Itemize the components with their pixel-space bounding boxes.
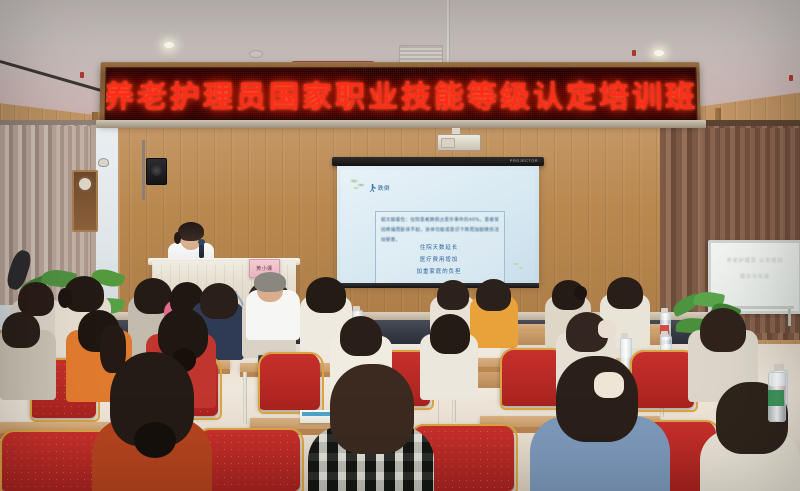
attendee-hair-bun: [58, 288, 72, 308]
whiteboard-leg: [788, 306, 791, 326]
attendee-hair: [2, 312, 40, 348]
slide-surface: 跌倒 据文献报告：住院患者跌倒占意外事件的40%，患者常因疼痛而卧床不起，身体功…: [341, 170, 535, 280]
attendee-hair: [306, 277, 346, 313]
chair-fabric: [4, 434, 106, 491]
attendee-hair: [476, 279, 511, 311]
attendee-hair: [18, 282, 54, 316]
ceiling-projector-icon: [437, 134, 481, 151]
sprinkler: [80, 72, 84, 78]
bottle-cap: [353, 306, 360, 311]
attendee-hair: [330, 364, 414, 454]
leaf-decoration-icon: [512, 261, 528, 273]
chair-frame: [258, 352, 324, 414]
screen-case-label: PROJECTOR: [510, 158, 538, 163]
bottle-cap: [661, 331, 668, 336]
attendee-hair: [340, 316, 382, 356]
ceiling-camera-icon: [98, 158, 109, 167]
wall-speaker-icon: [146, 158, 167, 185]
slide-line: 住院天数延长: [375, 242, 503, 254]
projection-screen: 跌倒 据文献报告：住院患者跌倒占意外事件的40%，患者常因疼痛而卧床不起，身体功…: [337, 166, 539, 286]
whiteboard-text-line-1: 养老护理员 认定培训: [719, 257, 791, 266]
slide-line: 医疗费用增加: [375, 254, 503, 266]
desk-leg: [243, 372, 247, 424]
hair-claw-clip: [594, 372, 624, 398]
sprinkler: [789, 75, 793, 81]
attendee-hair-bun: [574, 286, 587, 300]
bottle-cap: [774, 364, 784, 371]
attendee-hair-bun: [134, 422, 176, 458]
classroom-photo: 养老护理员国家职业技能等级认定培训班 PROJECTOR 跌倒 据文献报告：住院…: [0, 0, 800, 491]
led-banner: 养老护理员国家职业技能等级认定培训班: [99, 62, 700, 124]
led-banner-screen: 养老护理员国家职业技能等级认定培训班: [104, 67, 697, 121]
led-banner-text: 养老护理员国家职业技能等级认定培训班: [104, 72, 697, 116]
person-falling-icon: [369, 184, 376, 192]
attendee-hair: [254, 272, 286, 292]
attendee-hair: [556, 356, 638, 442]
downlight: [164, 42, 174, 48]
smoke-detector: [249, 50, 263, 58]
slide-line: 加重家庭的负担: [375, 266, 503, 278]
slide-heading: 跌倒: [369, 184, 390, 192]
attendee-hair: [700, 308, 746, 352]
bottle-cap: [661, 308, 668, 313]
sprinkler: [632, 50, 636, 56]
slide-bullet-lines: 住院天数延长 医疗费用增加 加重家庭的负担: [375, 242, 503, 278]
screen-roller-case: PROJECTOR: [332, 157, 544, 166]
chair-fabric: [200, 432, 296, 491]
whiteboard-text-line-2: 理论与实操: [719, 273, 791, 282]
attendee-hair: [430, 314, 470, 354]
banner-shelf: [96, 120, 706, 128]
speaker-mount-pole: [142, 140, 145, 200]
attendee-hair: [437, 280, 469, 310]
bottle-label: [768, 390, 784, 406]
ceiling-support-pole: [446, 0, 450, 68]
downlight: [654, 50, 664, 56]
bottle-cap: [621, 333, 628, 338]
presenter-hair-bun: [174, 232, 181, 244]
slide-heading-text: 跌倒: [378, 184, 390, 192]
hair-clip: [598, 320, 616, 338]
attendee-hair: [607, 277, 643, 309]
name-card-text: 黄小娜: [256, 265, 273, 272]
wall-clock: [77, 176, 93, 192]
microphone-icon: [199, 243, 204, 258]
attendee-hair: [200, 283, 238, 319]
